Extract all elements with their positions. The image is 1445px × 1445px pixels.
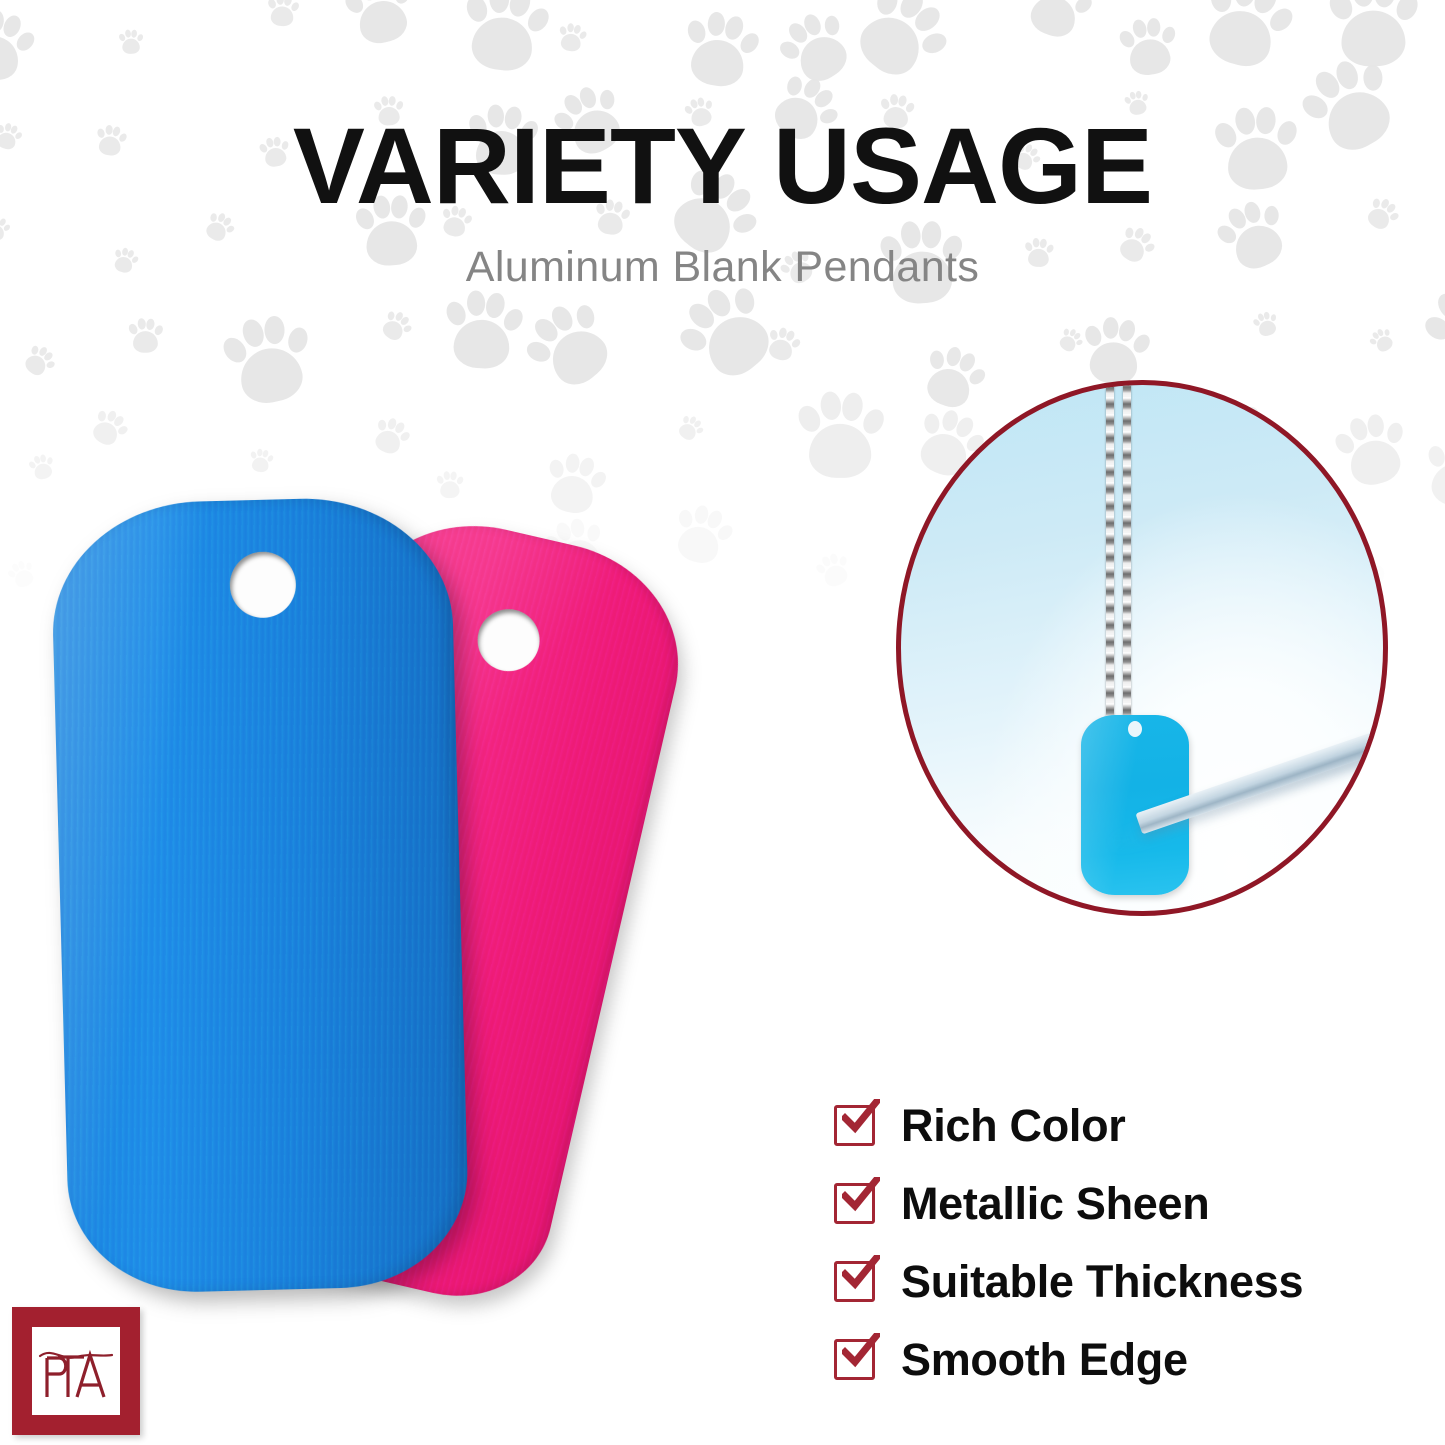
checkbox-checked-icon [834, 1105, 875, 1146]
paw-pad [387, 311, 395, 321]
paw-pad [953, 415, 977, 441]
paw-pad [39, 455, 46, 464]
paw-pad [704, 286, 736, 321]
paw-pad [578, 30, 588, 40]
paw-pad [1117, 318, 1138, 343]
paw-pad [270, 6, 294, 27]
paw-pad [45, 360, 55, 369]
paw-pad [267, 454, 275, 462]
paw-pad [940, 409, 960, 433]
product-marketing-image: VARIETY USAGE Aluminum Blank Pendants [0, 0, 1445, 1445]
paw-pad [399, 430, 412, 442]
paw-print-icon [769, 0, 869, 96]
paw-pad [286, 326, 311, 356]
paw-pad [1374, 334, 1395, 355]
paw-pad [1062, 0, 1085, 2]
paw-pad [944, 345, 962, 367]
paw-print-icon [127, 316, 165, 354]
paw-pad [277, 0, 285, 5]
paw-pad [1147, 18, 1161, 37]
paw-pad [956, 350, 978, 374]
paw-pad [136, 33, 144, 42]
paw-pad [399, 315, 410, 326]
paw-pad [1131, 18, 1149, 39]
paw-pad [1075, 339, 1083, 346]
paw-pad [236, 343, 308, 408]
paw-pad [98, 410, 107, 421]
paw-pad [1117, 28, 1138, 50]
paw-pad [0, 32, 23, 85]
paw-pad [919, 30, 949, 57]
paw-pad [785, 75, 803, 97]
paw-pad [929, 350, 944, 370]
paw-pad [824, 15, 840, 36]
inset-circle-photo [896, 380, 1388, 916]
paw-pad [1127, 36, 1172, 77]
paw-pad [1333, 58, 1362, 92]
paw-pad [689, 415, 698, 424]
paw-pad [723, 14, 747, 42]
paw-print-icon [266, 0, 303, 30]
paw-print-icon [118, 28, 146, 56]
paw-pad [267, 0, 277, 10]
feature-item: Smooth Edge [834, 1320, 1303, 1398]
paw-pad [1270, 314, 1276, 322]
paw-pad [394, 310, 404, 321]
paw-pad [17, 561, 25, 571]
paw-pad [380, 317, 407, 343]
paw-pad [572, 24, 581, 35]
paw-pad [11, 563, 21, 573]
paw-pad [567, 23, 574, 32]
paw-pad [1129, 92, 1137, 101]
paw-pad [452, 319, 510, 371]
paw-print-icon [673, 411, 709, 447]
paw-pad [1232, 0, 1257, 8]
paw-pad [1393, 0, 1422, 23]
paw-pad [875, 0, 900, 17]
brand-logo [12, 1307, 140, 1435]
paw-pad [896, 0, 928, 22]
feature-label: Metallic Sheen [901, 1181, 1209, 1226]
paw-pad [559, 26, 567, 36]
paw-pad [923, 363, 975, 412]
paw-pad [767, 336, 795, 362]
check-icon [842, 1255, 880, 1291]
paw-pad [524, 338, 554, 365]
paw-pad [13, 29, 38, 54]
paw-print-icon [85, 403, 136, 454]
paw-print-icon [1017, 0, 1104, 51]
paw-pad [693, 419, 702, 428]
paw-print-icon [17, 339, 61, 383]
paw-pad [357, 0, 379, 3]
paw-pad [27, 461, 36, 470]
paw-pad [1345, 435, 1404, 490]
paw-pad [1311, 67, 1344, 102]
paw-pad [1263, 311, 1270, 320]
paw-pad [1063, 329, 1069, 337]
paw-pad [707, 11, 725, 36]
product-photo [40, 470, 860, 1340]
paw-pad [26, 563, 32, 571]
paw-pad [106, 409, 118, 422]
paw-pad [403, 324, 413, 333]
feature-label: Rich Color [901, 1103, 1126, 1148]
paw-pad [6, 569, 16, 579]
paw-pad [22, 351, 49, 378]
paw-pad [443, 299, 469, 328]
paw-pad [801, 11, 824, 37]
paw-pad [1421, 312, 1445, 344]
paw-pad [131, 29, 138, 38]
paw-print-icon [678, 5, 769, 96]
paw-print-icon [376, 305, 419, 348]
paw-pad [819, 391, 842, 421]
paw-pad [1103, 317, 1118, 339]
paw-pad [118, 33, 127, 42]
feature-label: Suitable Thickness [901, 1259, 1303, 1304]
paw-pad [1429, 460, 1445, 509]
paw-pad [1326, 0, 1357, 23]
paw-pad [42, 350, 54, 361]
paw-pad [466, 290, 485, 316]
paw-pad [770, 329, 779, 340]
feature-item: Suitable Thickness [834, 1242, 1303, 1320]
feature-item: Rich Color [834, 1086, 1303, 1164]
paw-pad [239, 317, 267, 350]
paw-pad [785, 19, 811, 46]
paw-pad [966, 366, 988, 387]
paw-pad [697, 305, 779, 386]
paw-pad [777, 38, 803, 62]
paw-pad [1433, 289, 1445, 324]
paw-pad [137, 317, 146, 329]
paw-pad [696, 426, 705, 434]
paw-pad [463, 0, 490, 24]
paw-pad [33, 455, 41, 465]
paw-pad [688, 36, 747, 89]
paw-pad [37, 345, 48, 357]
paw-pad [1371, 332, 1380, 341]
paw-pad [785, 329, 797, 342]
paw-pad [791, 337, 803, 349]
paw-pad [1385, 421, 1404, 444]
paw-pad [483, 291, 507, 320]
paw-pad [1141, 94, 1148, 102]
paw-pad [523, 4, 552, 35]
paw-pad [342, 0, 367, 16]
paw-pad [1073, 0, 1096, 16]
paw-print-icon [216, 305, 327, 416]
paw-pad [1376, 329, 1384, 338]
paw-pad [125, 29, 132, 38]
brand-logo-inner [32, 1327, 120, 1415]
paw-pad [469, 14, 535, 74]
paw-pad [1068, 329, 1076, 338]
paw-pad [840, 392, 865, 423]
feature-list: Rich Color Metallic Sheen Suitable Thick… [834, 1086, 1303, 1398]
paw-pad [924, 414, 940, 435]
paw-pad [262, 449, 270, 458]
paw-pad [1369, 338, 1378, 346]
paw-pad [290, 1, 301, 13]
paw-pad [851, 6, 931, 85]
paw-pad [1440, 302, 1445, 379]
paw-pad [127, 322, 139, 335]
paw-pad [1209, 0, 1233, 13]
paw-pad [257, 449, 263, 457]
paw-pad [387, 417, 398, 430]
paw-pad [1426, 444, 1445, 469]
paw-pad [1265, 4, 1296, 35]
paw-print-icon [0, 2, 45, 92]
paw-pad [791, 27, 853, 87]
paw-pad [1252, 318, 1261, 327]
paw-pad [506, 0, 533, 19]
paw-pad [0, 9, 5, 33]
heading-block: VARIETY USAGE Aluminum Blank Pendants [0, 112, 1445, 289]
paw-print-icon [1116, 11, 1186, 81]
inset-pendant-hole [1128, 721, 1142, 737]
paw-pad [1130, 332, 1153, 356]
paw-print-icon [1366, 323, 1400, 357]
paw-pad [489, 0, 509, 13]
paw-pad [1203, 3, 1277, 72]
paw-print-icon [1054, 324, 1088, 358]
paw-pad [1057, 334, 1078, 355]
paw-pad [1384, 329, 1390, 336]
paw-pad [500, 306, 526, 334]
paw-pad [30, 345, 39, 355]
paw-pad [1083, 324, 1104, 348]
paw-pad [1250, 0, 1280, 17]
ball-chain-icon [1123, 380, 1131, 719]
paw-pad [122, 38, 140, 54]
paw-pad [90, 417, 122, 448]
paw-print-icon [457, 0, 559, 81]
page-title: VARIETY USAGE [0, 112, 1445, 220]
page-subtitle: Aluminum Blank Pendants [0, 246, 1445, 289]
paw-pad [683, 415, 690, 423]
paw-pad [12, 567, 36, 590]
paw-pad [393, 421, 406, 435]
paw-pad [1351, 0, 1376, 8]
feature-item: Metallic Sheen [834, 1164, 1303, 1242]
paw-pad [1366, 414, 1384, 438]
paw-print-icon [1328, 403, 1421, 496]
check-icon [842, 1177, 880, 1213]
paw-pad [153, 323, 164, 336]
paw-pad [733, 287, 757, 316]
paw-pad [1373, 0, 1398, 9]
paw-pad [378, 420, 386, 431]
paw-pad [548, 302, 577, 334]
paw-pad [283, 0, 293, 7]
paw-pad [1026, 0, 1081, 42]
paw-pad [859, 406, 888, 437]
paw-pad [1135, 91, 1141, 99]
paw-print-icon [1327, 0, 1427, 73]
paw-pad [1363, 65, 1383, 91]
paw-pad [1256, 312, 1264, 321]
paw-pad [890, 94, 898, 105]
paw-pad [1347, 415, 1370, 442]
paw-pad [800, 76, 823, 101]
paw-pad [686, 18, 709, 45]
paw-pad [779, 327, 788, 339]
paw-print-icon [512, 283, 633, 404]
check-icon [842, 1333, 880, 1369]
paw-pad [373, 427, 404, 457]
paw-print-icon [367, 412, 417, 462]
pta-monogram-icon [32, 1327, 120, 1415]
paw-pad [46, 457, 53, 465]
paw-pad [132, 331, 157, 353]
paw-print-icon [441, 287, 530, 376]
paw-pad [685, 299, 719, 333]
paw-print-icon [762, 323, 806, 367]
paw-print-icon [1419, 432, 1445, 516]
paw-pad [1341, 9, 1407, 67]
paw-print-icon [1250, 307, 1283, 340]
paw-pad [117, 424, 129, 436]
paw-pad [541, 319, 616, 393]
paw-pad [219, 334, 251, 367]
paw-pad [1160, 25, 1177, 45]
paw-pad [795, 403, 825, 436]
paw-pad [0, 13, 24, 40]
paw-print-icon [4, 555, 42, 593]
paw-print-icon [1190, 0, 1306, 83]
paw-pad [264, 316, 285, 345]
feature-label: Smooth Edge [901, 1337, 1188, 1382]
paw-pad [1331, 430, 1357, 457]
paw-pad [113, 414, 126, 428]
pendant-tag-blue [50, 495, 471, 1295]
checkbox-checked-icon [834, 1261, 875, 1302]
paw-pad [393, 0, 412, 5]
paw-pad [531, 314, 562, 345]
paw-pad [1072, 332, 1081, 341]
ball-chain-icon [1106, 380, 1114, 719]
paw-print-icon [838, 0, 968, 101]
paw-pad [250, 451, 257, 459]
paw-pad [677, 420, 699, 442]
paw-print-icon [913, 338, 995, 420]
checkbox-checked-icon [834, 1339, 875, 1380]
paw-pad [355, 0, 411, 47]
paw-pad [145, 318, 155, 331]
paw-pad [575, 303, 597, 329]
paw-pad [1256, 318, 1277, 338]
checkbox-checked-icon [834, 1183, 875, 1224]
paw-pad [677, 325, 710, 355]
paw-print-icon [340, 0, 428, 54]
paw-pad [910, 3, 944, 36]
paw-pad [737, 30, 763, 57]
paw-print-icon [555, 21, 590, 56]
check-icon [842, 1099, 880, 1135]
paw-pad [559, 32, 581, 52]
